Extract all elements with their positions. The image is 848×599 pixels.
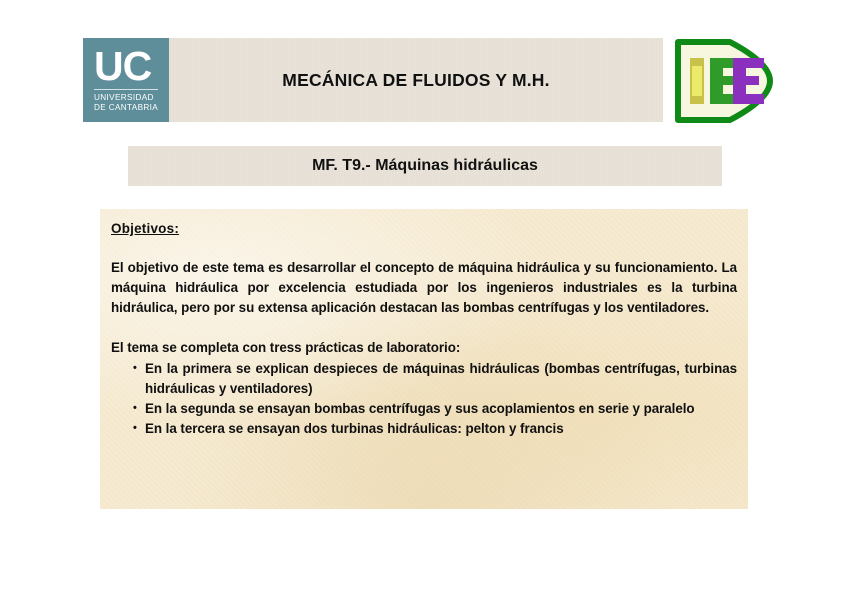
page-title: MECÁNICA DE FLUIDOS Y M.H. (169, 38, 663, 122)
intro-paragraph: El objetivo de este tema es desarrollar … (111, 258, 737, 318)
uc-logo-line2: DE CANTABRIA (94, 103, 160, 113)
list-item: En la segunda se ensayan bombas centrífu… (133, 399, 737, 419)
subtitle-bar: MF. T9.- Máquinas hidráulicas (128, 146, 722, 186)
objectives-heading: Objetivos: (111, 221, 739, 236)
list-item: En la primera se explican despieces de m… (133, 359, 737, 399)
practicas-intro-paragraph: El tema se completa con tress prácticas … (111, 338, 737, 358)
iee-logo-graphic (672, 38, 778, 124)
objectives-panel: Objetivos: El objetivo de este tema es d… (100, 209, 748, 509)
list-item: En la tercera se ensayan dos turbinas hi… (133, 419, 737, 439)
header-band: MECÁNICA DE FLUIDOS Y M.H. (83, 38, 663, 122)
subtitle-text: MF. T9.- Máquinas hidráulicas (312, 157, 538, 175)
iee-letter-i (690, 58, 704, 104)
iee-logo (672, 38, 778, 124)
uc-logo-mark: UC (94, 46, 160, 86)
practicas-bullet-list: En la primera se explican despieces de m… (109, 359, 739, 439)
uc-logo-line1: UNIVERSIDAD (94, 93, 160, 103)
uc-logo-divider (94, 89, 158, 90)
uc-logo: UC UNIVERSIDAD DE CANTABRIA (83, 38, 169, 122)
